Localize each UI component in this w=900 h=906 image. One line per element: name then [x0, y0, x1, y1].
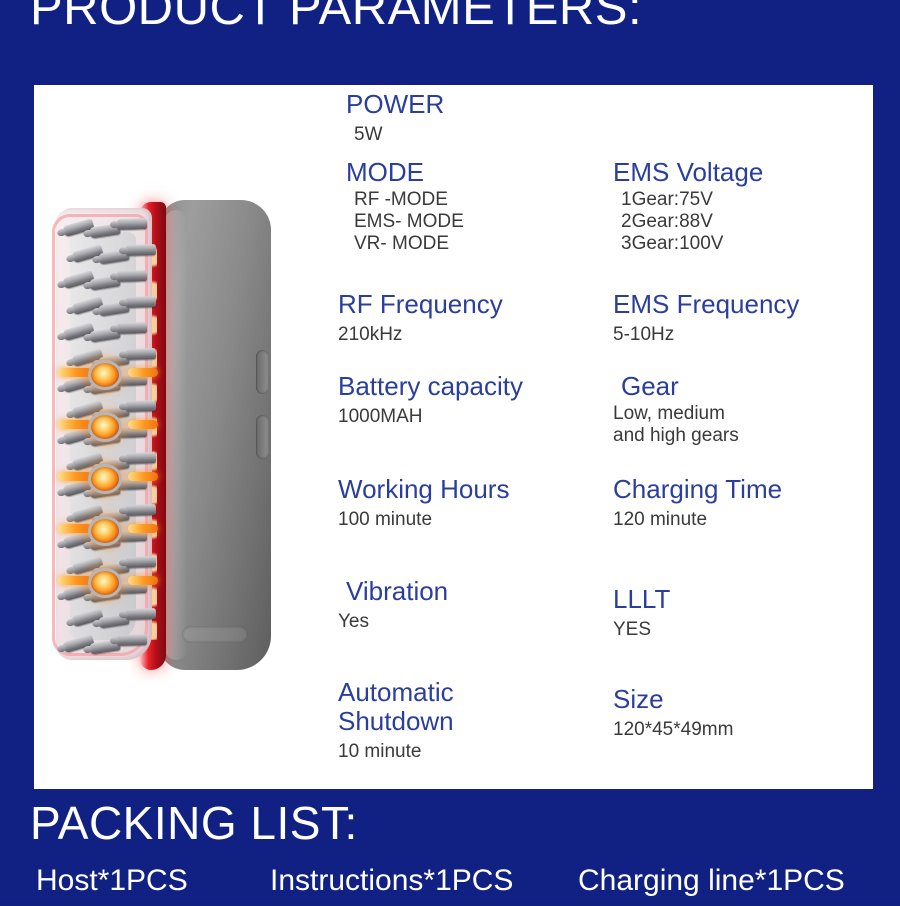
spec-value: 10 minute	[324, 741, 599, 763]
spec-label: Gear	[599, 372, 874, 401]
spec-value: RF -MODE EMS- MODE VR- MODE	[324, 189, 599, 255]
device-tooth	[125, 504, 156, 516]
spec-row: Charging Time120 minute	[599, 475, 874, 531]
spec-label: Charging Time	[599, 475, 874, 504]
device-tooth	[125, 348, 156, 360]
spec-value: Yes	[324, 611, 599, 633]
product-image	[44, 140, 304, 740]
device-light-bar	[128, 420, 158, 429]
device-light-bar	[128, 524, 158, 533]
device-tooth	[125, 452, 156, 464]
spec-row: Size120*45*49mm	[599, 685, 874, 741]
device-tooth	[116, 634, 147, 646]
spec-label: MODE	[324, 158, 599, 187]
packing-list-items: Host*1PCSInstructions*1PCSCharging line*…	[30, 866, 890, 906]
spec-value: 1Gear:75V 2Gear:88V 3Gear:100V	[599, 189, 874, 255]
device-tooth	[125, 556, 156, 568]
device-tooth	[125, 400, 156, 412]
spec-value: 5-10Hz	[599, 324, 874, 346]
device-light-bar	[128, 576, 158, 585]
packing-list-item: Host*1PCS	[36, 866, 188, 896]
packing-list-title: PACKING LIST:	[30, 800, 358, 846]
spec-label: Battery capacity	[324, 372, 599, 401]
packing-list-item: Charging line*1PCS	[578, 866, 845, 896]
spec-value: 100 minute	[324, 509, 599, 531]
device-led-orb	[88, 516, 122, 546]
device-tooth	[125, 244, 156, 256]
device-light-bar	[128, 368, 158, 377]
spec-row: POWER5W	[324, 90, 599, 146]
device-tooth	[125, 296, 156, 308]
packing-list-item: Instructions*1PCS	[270, 866, 513, 896]
spec-label: EMS Voltage	[599, 158, 874, 187]
spec-row: Working Hours100 minute	[324, 475, 599, 531]
spec-label: Size	[599, 685, 874, 714]
spec-value: Low, medium and high gears	[599, 403, 874, 447]
page-title: PRODUCT PARAMETERS:	[30, 0, 642, 33]
device-tooth	[125, 608, 156, 620]
device-light-bar	[128, 472, 158, 481]
spec-row: Battery capacity1000MAH	[324, 372, 599, 428]
device-led-orb	[88, 464, 122, 494]
device-tooth	[116, 322, 147, 334]
page-background: PRODUCT PARAMETERS: POWER5WMODERF	[0, 0, 900, 900]
device-light-bar	[58, 368, 92, 377]
spec-column-left: POWER5WMODERF -MODE EMS- MODE VR- MODERF…	[324, 85, 599, 789]
spec-row: RF Frequency210kHz	[324, 290, 599, 346]
device-led-orb	[88, 360, 122, 390]
spec-label: Working Hours	[324, 475, 599, 504]
spec-row: GearLow, medium and high gears	[599, 372, 874, 447]
spec-column-right: EMS Voltage1Gear:75V 2Gear:88V 3Gear:100…	[599, 85, 874, 789]
device-light-bar	[58, 420, 92, 429]
device-button-lower	[256, 415, 269, 459]
spec-label: RF Frequency	[324, 290, 599, 319]
spec-value: 120 minute	[599, 509, 874, 531]
spec-row: Automatic Shutdown10 minute	[324, 678, 599, 763]
device-led-orb	[88, 412, 122, 442]
spec-grid: POWER5WMODERF -MODE EMS- MODE VR- MODERF…	[324, 85, 873, 789]
spec-value: YES	[599, 619, 874, 641]
spec-label: LLLT	[599, 585, 874, 614]
spec-value: 120*45*49mm	[599, 719, 874, 741]
spec-row: EMS Voltage1Gear:75V 2Gear:88V 3Gear:100…	[599, 158, 874, 255]
spec-label: POWER	[324, 90, 599, 119]
spec-row: EMS Frequency5-10Hz	[599, 290, 874, 346]
device-button-upper	[256, 350, 269, 394]
device-light-bar	[58, 576, 92, 585]
device-body	[159, 200, 271, 670]
spec-row: VibrationYes	[324, 577, 599, 633]
device-logo	[182, 626, 248, 643]
spec-value: 1000MAH	[324, 406, 599, 428]
device-light-bar	[58, 524, 92, 533]
spec-value: 5W	[324, 124, 599, 146]
device-tooth	[116, 270, 147, 282]
spec-row: MODERF -MODE EMS- MODE VR- MODE	[324, 158, 599, 255]
spec-label: EMS Frequency	[599, 290, 874, 319]
device-led-orb	[88, 568, 122, 598]
spec-label: Vibration	[324, 577, 599, 606]
spec-row: LLLTYES	[599, 585, 874, 641]
spec-label: Automatic Shutdown	[324, 678, 599, 736]
spec-panel: POWER5WMODERF -MODE EMS- MODE VR- MODERF…	[34, 85, 873, 789]
device-tooth	[116, 218, 147, 230]
spec-value: 210kHz	[324, 324, 599, 346]
device-light-bar	[58, 472, 92, 481]
